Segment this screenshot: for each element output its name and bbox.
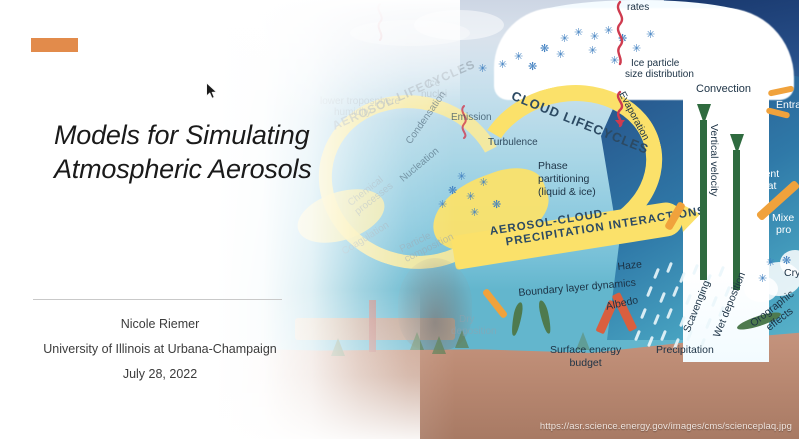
title-divider — [33, 299, 282, 300]
title-line-2: Atmospheric Aerosols — [54, 154, 312, 184]
mouse-cursor-icon — [205, 82, 219, 100]
presentation-slide: CLOUD LIFECYCLES AEROSOL LIFECYCLES AERO… — [0, 0, 799, 439]
title-line-1: Models for Simulating — [54, 120, 309, 150]
byline-block: Nicole Riemer University of Illinois at … — [20, 312, 300, 387]
source-url-caption: https://asr.science.energy.gov/images/cm… — [540, 421, 792, 432]
author-name: Nicole Riemer — [20, 312, 300, 337]
accent-bar — [31, 38, 78, 52]
top-white-fade-overlay — [0, 0, 460, 120]
presentation-date: July 28, 2022 — [20, 362, 300, 387]
author-affiliation: University of Illinois at Urbana-Champai… — [20, 337, 300, 362]
page-title: Models for Simulating Atmospheric Aeroso… — [54, 118, 374, 186]
